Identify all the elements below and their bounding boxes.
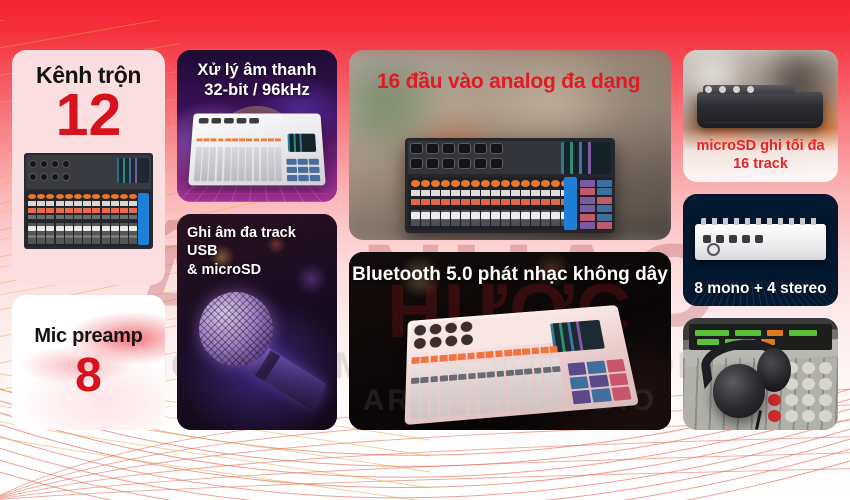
card-audio-processing[interactable]: Xử lý âm thanh 32-bit / 96kHz bbox=[177, 50, 337, 202]
microsd-line1: microSD ghi tối đa bbox=[683, 138, 838, 156]
card-mic-preamp[interactable]: Mic preamp 8 bbox=[12, 295, 165, 430]
card-mix-channels[interactable]: Kênh trộn 12 bbox=[12, 50, 165, 285]
card-microsd-recording[interactable]: microSD ghi tối đa 16 track bbox=[683, 50, 838, 182]
mic-preamp-value: 8 bbox=[75, 352, 102, 400]
audio-processing-line2: 32-bit / 96kHz bbox=[185, 80, 329, 100]
usb-recording-heading: Ghi âm đa track USB & microSD bbox=[177, 214, 337, 279]
mixer-side-profile-image bbox=[697, 92, 823, 128]
bluetooth-heading: Bluetooth 5.0 phát nhạc không dây bbox=[349, 252, 671, 286]
mixer-rear-panel-image bbox=[695, 224, 826, 260]
card-bluetooth[interactable]: HƯỚC ARTHOME AUDIO Bluetooth 5.0 phát nh… bbox=[349, 252, 671, 430]
microphone-image bbox=[183, 276, 331, 426]
card-mono-stereo-inputs[interactable]: 8 mono + 4 stereo bbox=[683, 194, 838, 306]
mic-preamp-label: Mic preamp bbox=[34, 325, 142, 348]
mixer-side-knobs bbox=[705, 86, 754, 93]
headphone-earcup-near bbox=[713, 364, 765, 418]
microsd-line2: 16 track bbox=[683, 156, 838, 174]
audio-processing-heading: Xử lý âm thanh 32-bit / 96kHz bbox=[177, 50, 337, 101]
card-usb-recording[interactable]: Ghi âm đa track USB & microSD bbox=[177, 214, 337, 430]
audio-processing-line1: Xử lý âm thanh bbox=[185, 60, 329, 80]
mix-channels-value: 12 bbox=[56, 87, 122, 143]
feature-card-grid: Kênh trộn 12 Mic preamp 8 bbox=[0, 0, 850, 500]
analog-inputs-heading: 16 đầu vào analog đa dạng bbox=[349, 50, 671, 94]
card-headphones[interactable] bbox=[683, 318, 838, 430]
digital-mixer-image bbox=[24, 153, 153, 249]
mono-stereo-heading: 8 mono + 4 stereo bbox=[683, 280, 838, 298]
card-analog-inputs[interactable]: 16 đầu vào analog đa dạng bbox=[349, 50, 671, 240]
mixer-rear-inputs-image bbox=[405, 138, 615, 233]
white-mixer-image bbox=[188, 113, 326, 185]
microsd-heading: microSD ghi tối đa 16 track bbox=[683, 138, 838, 174]
usb-recording-line1: Ghi âm đa track USB bbox=[187, 224, 327, 261]
pink-mixer-image bbox=[405, 305, 639, 425]
